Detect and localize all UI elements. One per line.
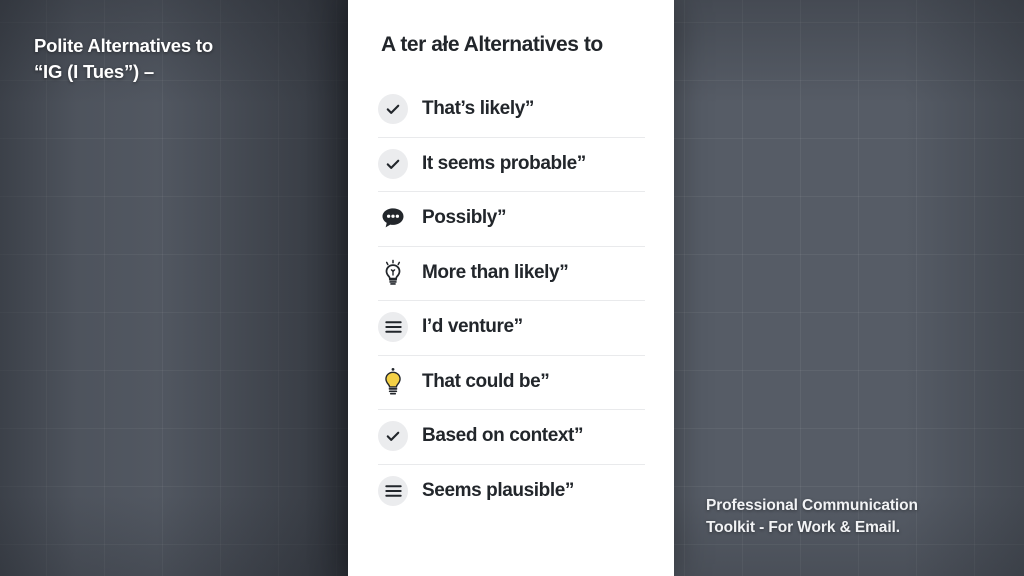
check-icon — [378, 94, 408, 124]
list-item-label: Seems plausible” — [422, 480, 574, 502]
footer-caption: Professional Communication Toolkit - For… — [706, 495, 1006, 540]
list-item-label: More than likely” — [422, 262, 568, 284]
list-item-label: I’d venture” — [422, 316, 523, 338]
lightbulb-outline-icon — [378, 258, 408, 288]
list-item[interactable]: More than likely” — [348, 246, 674, 301]
speech-bubble-icon — [378, 203, 408, 233]
list-item[interactable]: Possibly” — [348, 191, 674, 246]
alternatives-list: That’s likely” It seems probable” — [348, 82, 674, 518]
left-heading: Polite Alternatives to “IG (I Tues”) – — [34, 33, 334, 86]
list-item-label: Possibly” — [422, 207, 506, 229]
alternatives-card: A ter ałe Alternatives to That’s likely”… — [348, 0, 674, 576]
left-heading-line-1: Polite Alternatives to — [34, 35, 213, 56]
list-item[interactable]: Based on context” — [348, 409, 674, 464]
footer-caption-line-1: Professional Communication — [706, 497, 918, 514]
list-item-label: Based on context” — [422, 425, 583, 447]
slide-canvas: Polite Alternatives to “IG (I Tues”) – P… — [0, 0, 1024, 576]
list-item[interactable]: It seems probable” — [348, 137, 674, 192]
list-item[interactable]: That could be” — [348, 355, 674, 410]
left-heading-line-2: “IG (I Tues”) – — [34, 59, 334, 85]
check-icon — [378, 149, 408, 179]
list-item[interactable]: I’d venture” — [348, 300, 674, 355]
check-icon — [378, 421, 408, 451]
lightbulb-filled-icon — [378, 367, 408, 397]
list-item-label: That could be” — [422, 371, 549, 393]
footer-caption-line-2: Toolkit - For Work & Email. — [706, 517, 1006, 539]
list-icon — [378, 476, 408, 506]
list-item-label: That’s likely” — [422, 98, 534, 120]
list-icon — [378, 312, 408, 342]
list-item-label: It seems probable” — [422, 153, 586, 175]
list-item[interactable]: Seems plausible” — [348, 464, 674, 519]
list-item[interactable]: That’s likely” — [348, 82, 674, 137]
card-title: A ter ałe Alternatives to — [381, 33, 658, 57]
